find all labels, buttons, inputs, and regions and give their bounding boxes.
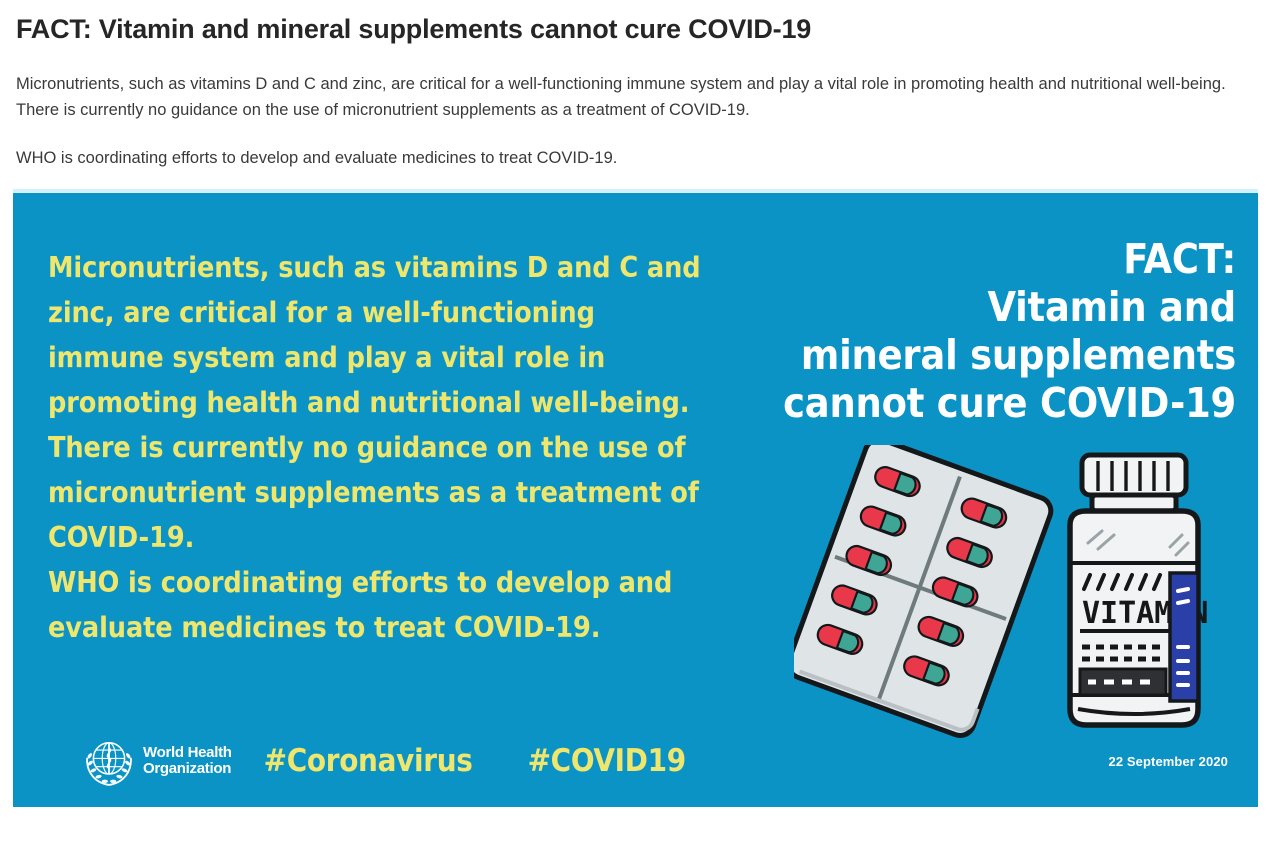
article-paragraph-2: WHO is coordinating efforts to develop a… <box>16 145 1264 171</box>
banner-body-line-2: There is currently no guidance on the us… <box>48 425 708 560</box>
who-wordmark: World Health Organization <box>143 745 232 777</box>
page-title: FACT: Vitamin and mineral supplements ca… <box>16 14 1264 45</box>
banner-footer: World Health Organization #Coronavirus #… <box>13 715 1258 807</box>
banner-body-copy: Micronutrients, such as vitamins D and C… <box>48 245 708 650</box>
banner-headline-line-3: mineral supplements <box>616 331 1236 379</box>
banner-headline-line-2: Vitamin and <box>616 283 1236 331</box>
who-wordmark-line-1: World Health <box>143 745 232 761</box>
banner-body-line-3: WHO is coordinating efforts to develop a… <box>48 560 708 650</box>
supplements-illustration: VITAMIN <box>794 445 1244 745</box>
banner-date: 22 September 2020 <box>1109 754 1239 769</box>
vitamin-supplement-bottle: VITAMIN <box>1070 455 1208 725</box>
who-emblem-icon <box>83 735 135 787</box>
who-logo: World Health Organization <box>83 735 232 787</box>
banner-body-line-1: Micronutrients, such as vitamins D and C… <box>48 245 708 425</box>
banner-headline-line-1: FACT: <box>616 235 1236 283</box>
hashtag-coronavirus[interactable]: #Coronavirus <box>264 743 473 779</box>
who-mythbuster-banner: Micronutrients, such as vitamins D and C… <box>13 189 1258 807</box>
banner-headline: FACT: Vitamin and mineral supplements ca… <box>616 235 1236 427</box>
article-section: FACT: Vitamin and mineral supplements ca… <box>0 0 1280 171</box>
pill-blister-pack <box>794 445 1055 739</box>
banner-wrapper: Micronutrients, such as vitamins D and C… <box>0 189 1280 807</box>
banner-headline-line-4: cannot cure COVID-19 <box>616 379 1236 427</box>
hashtag-covid19[interactable]: #COVID19 <box>528 743 686 779</box>
article-paragraph-1: Micronutrients, such as vitamins D and C… <box>16 71 1264 123</box>
who-wordmark-line-2: Organization <box>143 761 232 777</box>
